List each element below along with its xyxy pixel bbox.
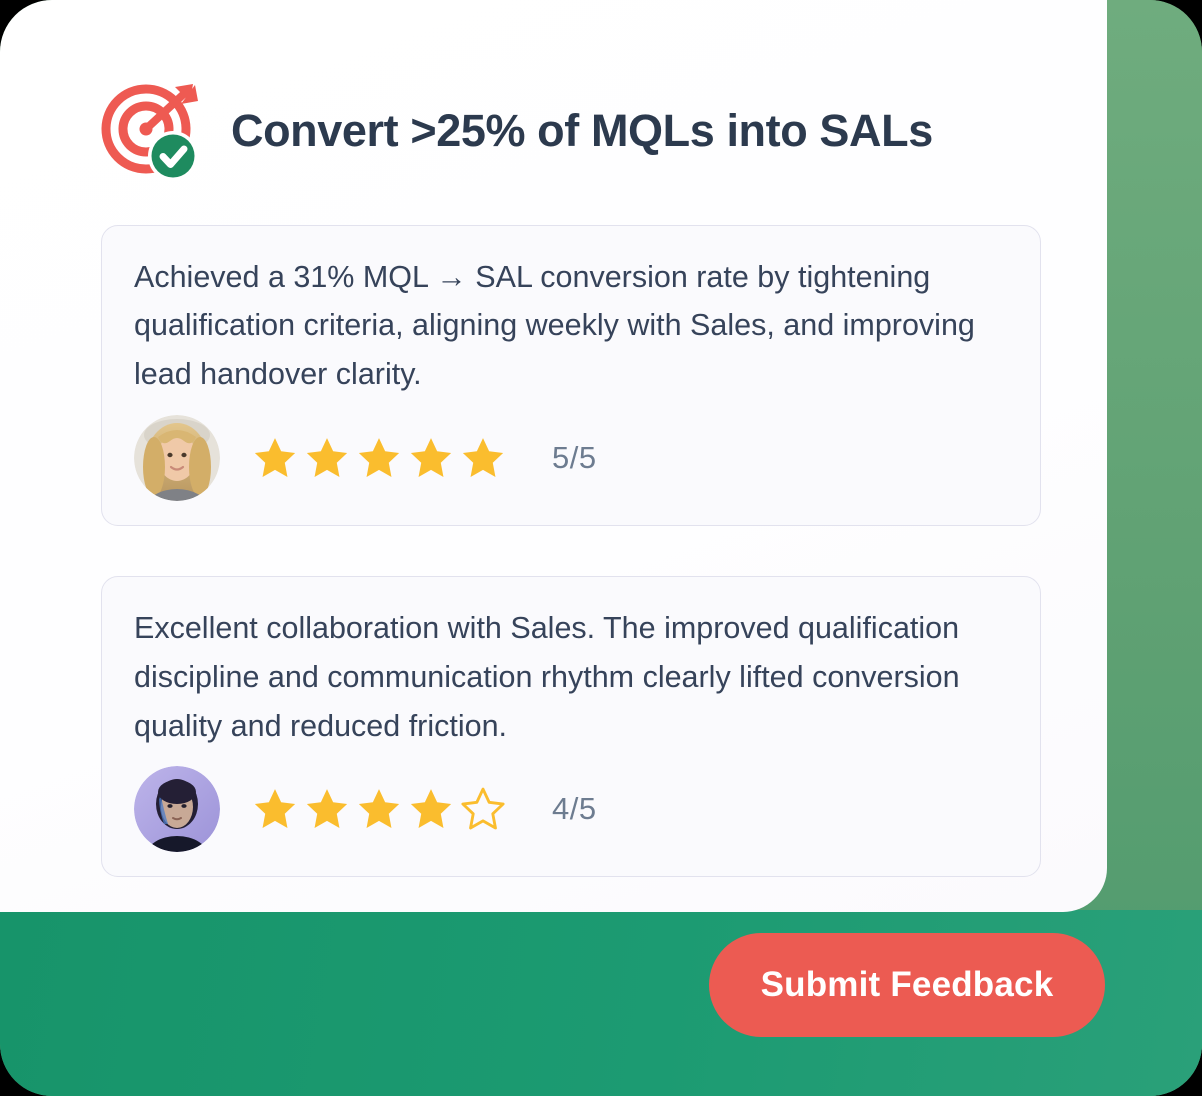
rating-label: 4/5 <box>552 791 597 827</box>
feedback-card: Achieved a 31% MQL → SAL conversion rate… <box>101 225 1041 526</box>
reviewer-avatar <box>134 766 220 852</box>
rating-label: 5/5 <box>552 440 597 476</box>
reviewer-avatar <box>134 415 220 501</box>
star-filled-icon[interactable] <box>252 786 298 832</box>
feedback-text: Excellent collaboration with Sales. The … <box>134 604 1010 750</box>
page-title: Convert >25% of MQLs into SALs <box>231 106 933 156</box>
rating-row: 4/5 <box>134 766 1010 852</box>
star-empty-icon[interactable] <box>460 786 506 832</box>
goal-header: Convert >25% of MQLs into SALs <box>101 76 1041 187</box>
star-rating[interactable] <box>252 435 506 481</box>
star-filled-icon[interactable] <box>356 786 402 832</box>
star-filled-icon[interactable] <box>252 435 298 481</box>
star-filled-icon[interactable] <box>408 786 454 832</box>
star-filled-icon[interactable] <box>304 786 350 832</box>
submit-feedback-button[interactable]: Submit Feedback <box>709 933 1105 1037</box>
rating-row: 5/5 <box>134 415 1010 501</box>
star-filled-icon[interactable] <box>460 435 506 481</box>
target-check-icon <box>101 79 205 183</box>
star-filled-icon[interactable] <box>304 435 350 481</box>
content-panel: Convert >25% of MQLs into SALs Achieved … <box>0 0 1107 912</box>
feedback-dialog: Convert >25% of MQLs into SALs Achieved … <box>0 0 1202 1096</box>
star-filled-icon[interactable] <box>356 435 402 481</box>
star-filled-icon[interactable] <box>408 435 454 481</box>
star-rating[interactable] <box>252 786 506 832</box>
feedback-text: Achieved a 31% MQL → SAL conversion rate… <box>134 253 1010 399</box>
feedback-card: Excellent collaboration with Sales. The … <box>101 576 1041 877</box>
